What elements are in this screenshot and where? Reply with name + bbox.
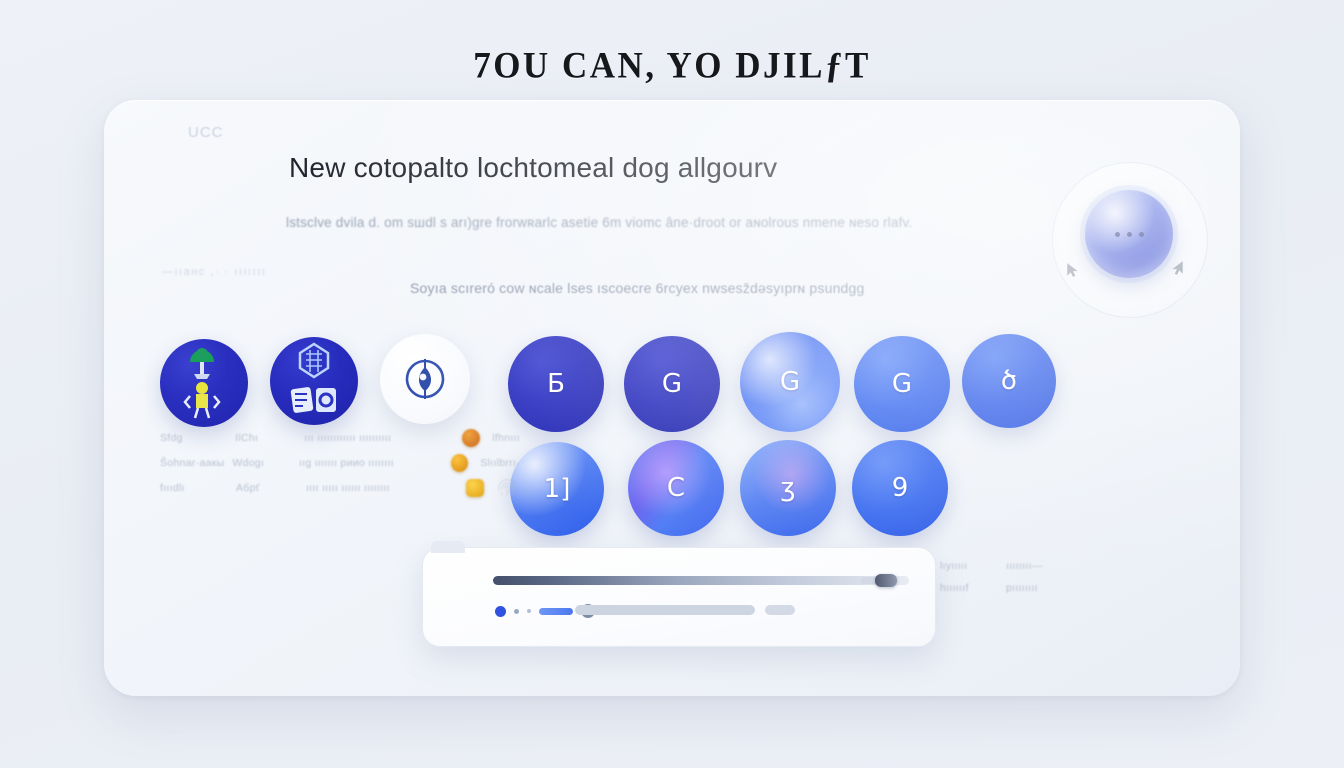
app-circle-letter-be[interactable]: Б [508,336,604,432]
subtitle-line-1: lstsclve dvila d. om sшdl s arı)gre fror… [286,215,1086,230]
banner-headline: 7OU CAN, YO DJILƒT [473,45,871,87]
table-cell: IlChı [235,432,304,444]
faint-left-label: —ııанс ,· · ııııııı [162,266,266,278]
circle-glyph: G [780,367,800,397]
cursor-arrow-left-icon [1066,262,1080,278]
circle-glyph: G [662,369,682,399]
progress-bar-track[interactable] [493,576,909,585]
pictogram-people-icon [172,344,236,422]
placeholder-pill-2 [679,605,755,615]
status-chip-yellow-icon [466,479,484,497]
compass-emblem-icon [399,353,451,405]
card-watermark: UCC [188,124,224,141]
orb-core[interactable] [1085,190,1173,278]
panel-tab-handle[interactable] [431,541,465,553]
table-cell: Šohnar·аакы [160,457,232,469]
app-circle-letter-g-2[interactable]: G [740,332,840,432]
orb-dot-2 [1127,232,1132,237]
circle-glyph: ծ [1001,366,1017,396]
table-cell: Wdogı [232,457,299,469]
table-cell: ıııı ııııı ıııııı ıııııııı [306,482,466,494]
placeholder-pill-3 [765,605,795,615]
table-cell: Абрť [236,482,306,494]
fingerprint-icon [496,477,518,499]
orb-dot-3 [1139,232,1144,237]
bottom-control-panel [422,547,936,647]
table-cell: Slıılbrrı· [480,457,520,469]
table-cell: ııɡ ııııııı риио ıııııııı [299,457,451,469]
control-dot-2[interactable] [527,609,531,613]
right-label: ıııııııı— [1006,560,1043,572]
circle-glyph: G [892,369,912,399]
table-row[interactable]: Sfdg IlChı ııı ıııııııııııı ıııııııııı l… [160,425,520,450]
control-dot-1[interactable] [514,609,519,614]
control-dot-active[interactable] [495,606,506,617]
status-chip-orange-icon [462,429,480,447]
table-row[interactable]: fıııdlı Абрť ıııı ııııı ıııııı ıııııııı [160,475,520,500]
app-circle-pictogram-people[interactable] [160,339,248,427]
placeholder-pill-1 [575,605,693,615]
circle-glyph: C [667,473,685,503]
app-circle-number-one[interactable]: 1] [510,442,604,536]
right-label: рıııııııı [1006,582,1038,594]
circle-glyph: 1] [544,474,571,504]
app-circle-letter-tso[interactable]: ծ [962,334,1056,428]
table-cell: fıııdlı [160,482,236,494]
cursor-arrow-right-icon [1170,260,1184,276]
right-label: hııııııf [940,582,996,594]
main-card: UCC New cotopalto lochtomeal dog allgour… [104,100,1240,696]
app-circle-letter-c[interactable]: C [628,440,724,536]
page-title: New cotopalto lochtomeal dog allgourv [289,152,777,184]
table-cell: ııı ıııııııııııı ıııııııııı [304,432,462,444]
status-orb[interactable] [1052,162,1208,318]
app-circle-number-nine[interactable]: 9 [852,440,948,536]
circle-glyph: 9 [892,473,909,503]
orb-dot-1 [1115,232,1120,237]
subtitle-line-2: Soуıa scıreró cow ɴcale lses ıscoecre 6r… [410,280,1010,296]
table-row[interactable]: Šohnar·аакы Wdogı ııɡ ııııııı риио ııııı… [160,450,520,475]
app-circle-pictogram-cards[interactable] [270,337,358,425]
app-circle-letter-g-3[interactable]: G [854,336,950,432]
faint-data-table: Sfdg IlChı ııı ıııııııııııı ıııııııııı l… [160,425,520,500]
pictogram-cards-icon [282,342,346,420]
banner: 7OU CAN, YO DJILƒT [0,46,1344,86]
circle-glyph: Б [547,369,565,399]
circle-glyph: ʒ [780,473,795,503]
table-cell: Sfdg [160,432,235,444]
right-label: lıуııııı [940,560,996,572]
app-circle-letter-g-1[interactable]: G [624,336,720,432]
table-cell: lfhnııı [492,432,520,444]
app-circle-emblem[interactable] [380,334,470,424]
app-circle-letter-ezh[interactable]: ʒ [740,440,836,536]
progress-bar-handle[interactable] [875,574,897,587]
status-chip-amber-icon [451,454,468,472]
control-slider-fill[interactable] [539,608,573,615]
